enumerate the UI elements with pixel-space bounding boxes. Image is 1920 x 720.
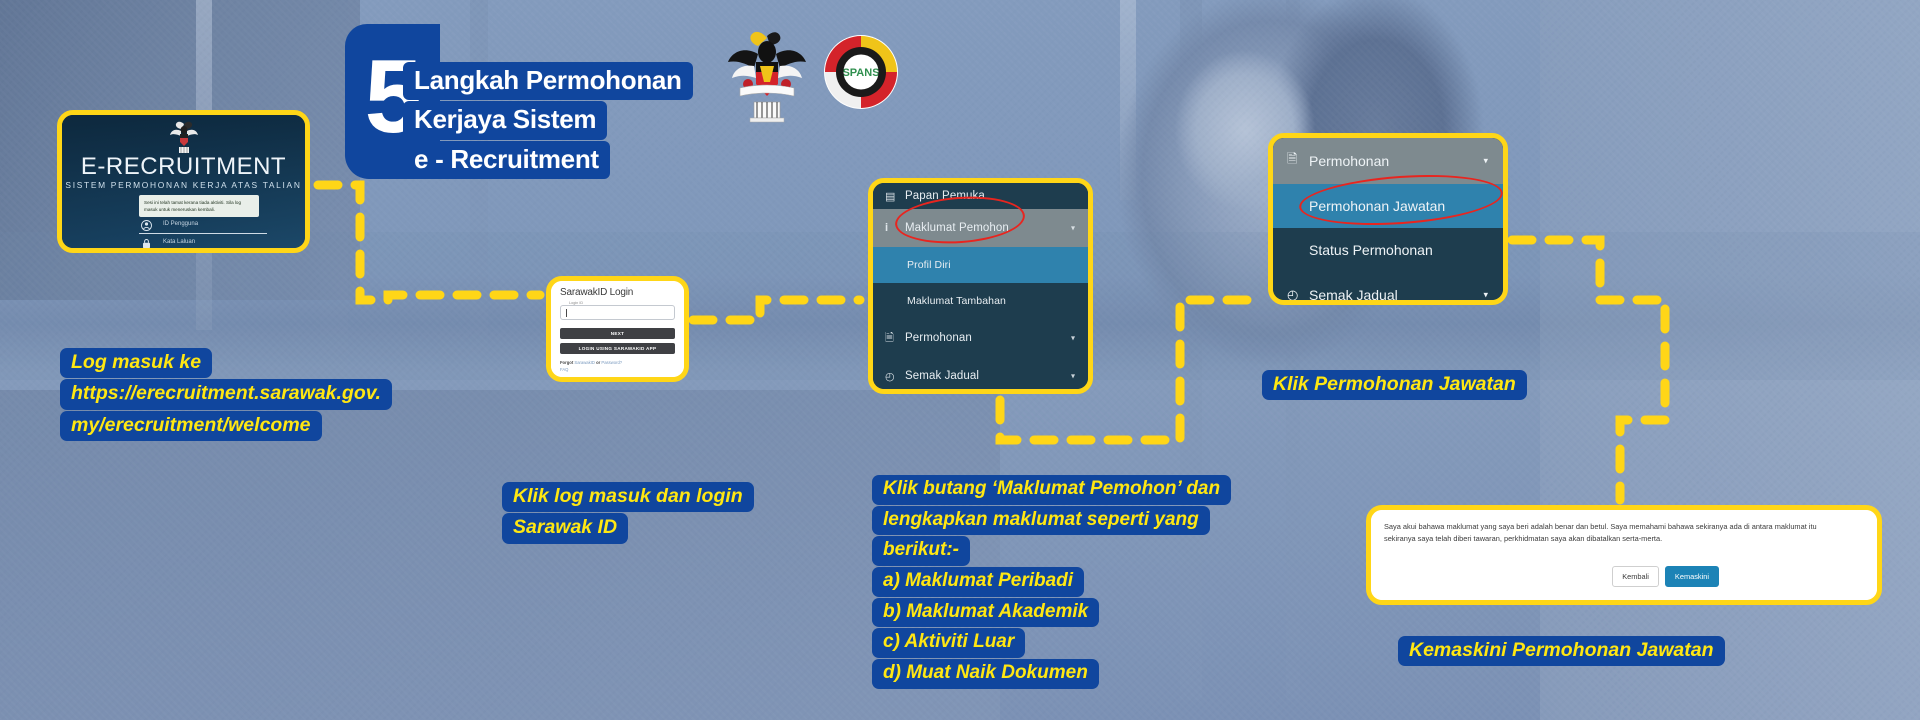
- title-line-1: Langkah Permohonan: [403, 62, 693, 100]
- login-using-app-button[interactable]: LOGIN USING SARAWAKID APP: [560, 343, 675, 354]
- password-field[interactable]: Kata Laluan: [139, 236, 267, 252]
- login-id-input[interactable]: [560, 305, 675, 320]
- caption-line: Klik log masuk dan login: [502, 482, 754, 512]
- caption-step-2: Klik log masuk dan login Sarawak ID: [502, 482, 754, 545]
- caption-step-5: Kemaskini Permohonan Jawatan: [1398, 636, 1725, 667]
- erecruitment-subtitle: SISTEM PERMOHONAN KERJA ATAS TALIAN: [62, 181, 305, 189]
- caption-step-1: Log masuk ke https://erecruitment.sarawa…: [60, 348, 392, 442]
- forgot-password-link[interactable]: Password?: [601, 360, 622, 365]
- chevron-down-icon[interactable]: ▾: [1071, 372, 1075, 381]
- declaration-dialog-screenshot[interactable]: Saya akui bahawa maklumat yang saya beri…: [1366, 505, 1882, 605]
- caption-step-4: Klik Permohonan Jawatan: [1262, 370, 1527, 401]
- document-icon: 🗎: [1287, 150, 1309, 172]
- user-icon: [141, 220, 152, 231]
- caption-line: https://erecruitment.sarawak.gov.: [60, 379, 392, 409]
- session-expired-alert: Sesi ini telah tamat kerana tiada aktivi…: [139, 195, 259, 217]
- title-line-3: e - Recruitment: [403, 141, 610, 179]
- sidebar-item-label: Maklumat Pemohon: [905, 222, 1009, 234]
- login-id-label: Login ID: [566, 301, 586, 305]
- erecruitment-crest-icon: [169, 119, 199, 155]
- caption-line: a) Maklumat Peribadi: [872, 567, 1084, 597]
- sidebar-item-label: Papan Pemuka: [905, 190, 985, 202]
- help-links: Forgot SarawakID or Password? FAQ: [560, 360, 675, 374]
- forgot-line: Forgot SarawakID or Password?: [560, 360, 675, 367]
- sidebar-item-status-permohonan[interactable]: Status Permohonan: [1273, 228, 1503, 272]
- declaration-text-line-2: sekiranya saya telah diberi tawaran, per…: [1384, 533, 1864, 545]
- sidebar-item-label: Maklumat Tambahan: [907, 295, 1006, 307]
- user-id-placeholder: ID Pengguna: [163, 221, 198, 227]
- dashboard-icon: ▤: [885, 190, 905, 203]
- caption-step-3: Klik butang ‘Maklumat Pemohon’ dan lengk…: [872, 475, 1231, 690]
- applicant-menu-screenshot[interactable]: ▤ Papan Pemuka 𝐢 Maklumat Pemohon ▾ Prof…: [868, 178, 1093, 394]
- caption-line: Kemaskini Permohonan Jawatan: [1398, 636, 1725, 666]
- sidebar-item-label: Permohonan: [905, 332, 972, 344]
- caption-line: c) Aktiviti Luar: [872, 628, 1025, 658]
- text-caret: [566, 309, 567, 317]
- dialog-actions: Kembali Kemaskini: [1612, 566, 1719, 587]
- spans-logo-icon: SPANS: [823, 34, 899, 110]
- title-line-2: Kerjaya Sistem: [403, 101, 607, 139]
- password-placeholder: Kata Laluan: [163, 239, 195, 245]
- caption-line: berikut:-: [872, 536, 970, 566]
- sidebar-item-semak-jadual[interactable]: ◴ Semak Jadual ▾: [873, 357, 1088, 394]
- sidebar-item-profil-diri[interactable]: Profil Diri: [873, 247, 1088, 283]
- caption-line: lengkapkan maklumat seperti yang: [872, 506, 1210, 536]
- kemaskini-button[interactable]: Kemaskini: [1665, 566, 1719, 587]
- page-title: 5 Langkah Permohonan Kerjaya Sistem e - …: [345, 24, 745, 184]
- clock-icon: ◴: [885, 370, 905, 383]
- caption-line: d) Muat Naik Dokumen: [872, 659, 1099, 689]
- faq-link[interactable]: FAQ: [560, 367, 675, 374]
- caption-line: b) Maklumat Akademik: [872, 598, 1099, 628]
- sidebar-item-label: Status Permohonan: [1309, 242, 1433, 258]
- sidebar-item-label: Semak Jadual: [905, 370, 979, 382]
- sarawak-coat-of-arms-icon: [726, 22, 808, 132]
- forgot-sarawakid-link[interactable]: SarawakID: [574, 360, 594, 365]
- sidebar-item-maklumat-pemohon[interactable]: 𝐢 Maklumat Pemohon ▾: [873, 209, 1088, 247]
- lock-icon: [141, 238, 152, 249]
- sarawakid-login-panel: SarawakID Login Login ID NEXT LOGIN USIN…: [551, 281, 684, 377]
- sidebar-item-permohonan[interactable]: 🗎 Permohonan ▾: [873, 319, 1088, 357]
- caption-line: Log masuk ke: [60, 348, 212, 378]
- document-icon: 🗎: [885, 329, 905, 348]
- spans-logo-text: SPANS: [842, 67, 879, 79]
- sidebar-item-label: Permohonan: [1309, 153, 1389, 169]
- sidebar-item-papan-pemuka[interactable]: ▤ Papan Pemuka: [873, 183, 1088, 209]
- caption-line: Klik Permohonan Jawatan: [1262, 370, 1527, 400]
- forgot-label: Forgot: [560, 360, 574, 365]
- erecruitment-title: E-RECRUITMENT: [62, 155, 305, 179]
- declaration-dialog: Saya akui bahawa maklumat yang saya beri…: [1371, 510, 1877, 600]
- sidebar-item-maklumat-tambahan[interactable]: Maklumat Tambahan: [873, 283, 1088, 319]
- chevron-down-icon[interactable]: ▾: [1483, 290, 1488, 301]
- permohonan-nav-menu: 🗎 Permohonan ▾ Permohonan Jawatan Status…: [1273, 138, 1503, 300]
- next-button[interactable]: NEXT: [560, 328, 675, 339]
- sidebar-item-label: Semak Jadual: [1309, 287, 1398, 303]
- clock-icon: ◴: [1287, 287, 1309, 303]
- erecruitment-screen: E-RECRUITMENT SISTEM PERMOHONAN KERJA AT…: [62, 115, 305, 248]
- sidebar-item-label: Profil Diri: [907, 259, 951, 271]
- login-id-field-wrapper[interactable]: Login ID: [560, 305, 675, 320]
- sidebar-item-label: Permohonan Jawatan: [1309, 198, 1445, 214]
- caption-line: Sarawak ID: [502, 513, 628, 543]
- user-id-field[interactable]: ID Pengguna: [139, 218, 267, 234]
- declaration-text-line-1: Saya akui bahawa maklumat yang saya beri…: [1384, 521, 1864, 533]
- sidebar-item-semak-jadual[interactable]: ◴ Semak Jadual ▾: [1273, 272, 1503, 305]
- erecruitment-login-screenshot[interactable]: E-RECRUITMENT SISTEM PERMOHONAN KERJA AT…: [57, 110, 310, 253]
- chevron-down-icon[interactable]: ▾: [1071, 224, 1075, 233]
- sarawakid-login-screenshot[interactable]: SarawakID Login Login ID NEXT LOGIN USIN…: [546, 276, 689, 382]
- divider: [560, 379, 675, 380]
- sidebar-item-permohonan-jawatan[interactable]: Permohonan Jawatan: [1273, 184, 1503, 228]
- chevron-down-icon[interactable]: ▾: [1071, 334, 1075, 343]
- caption-line: Klik butang ‘Maklumat Pemohon’ dan: [872, 475, 1231, 505]
- kembali-button[interactable]: Kembali: [1612, 566, 1659, 587]
- title-text-lines: Langkah Permohonan Kerjaya Sistem e - Re…: [403, 62, 748, 180]
- sidebar-item-permohonan[interactable]: 🗎 Permohonan ▾: [1273, 138, 1503, 184]
- applicant-nav-menu: ▤ Papan Pemuka 𝐢 Maklumat Pemohon ▾ Prof…: [873, 183, 1088, 389]
- sarawakid-login-title: SarawakID Login: [560, 287, 675, 298]
- permohonan-menu-screenshot[interactable]: 🗎 Permohonan ▾ Permohonan Jawatan Status…: [1268, 133, 1508, 305]
- caption-line: my/erecruitment/welcome: [60, 411, 322, 441]
- info-icon: 𝐢: [885, 222, 905, 235]
- chevron-down-icon[interactable]: ▾: [1483, 156, 1488, 167]
